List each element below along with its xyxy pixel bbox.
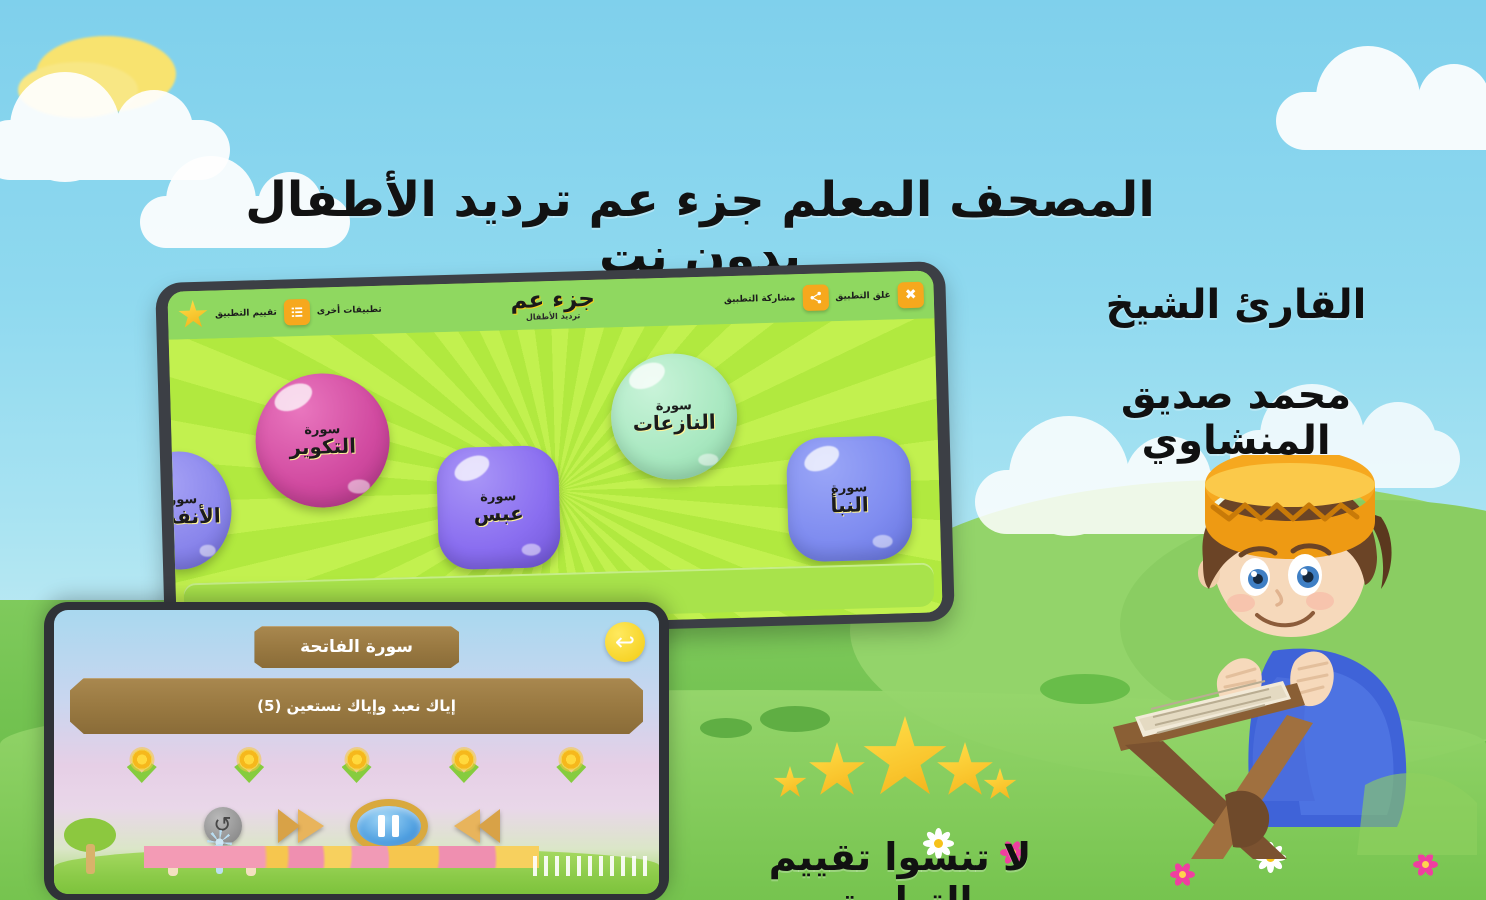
boy-reading-quran-illustration [1105,455,1485,875]
app-screen-menu: ✖ غلق التطبيق مشاركة التطبيق جزء عم تردي… [167,270,942,633]
bush-icon [760,706,830,732]
reciter-label: القارئ الشيخ [1026,282,1446,328]
tiny-flowers-row [144,846,539,868]
close-app-label: غلق التطبيق [835,291,891,303]
phone-mockup-player: ↩ سورة الفاتحة إياك نعبد وإياك نستعين (5… [44,602,669,900]
fence-icon [533,856,653,876]
other-apps-label: تطبيقات أخرى [317,305,382,317]
surah-button-annaziat[interactable]: سورة النازعات [609,352,738,481]
flower-icon [447,749,481,783]
flower-icon [232,749,266,783]
player-scenery [54,832,659,894]
surah-name: التكوير [289,436,356,459]
surah-button-alinfitar[interactable]: سورة الأنفطار [169,450,233,571]
toolbar-right-group: ✖ غلق التطبيق مشاركة التطبيق [724,282,925,314]
cloud-icon [1276,92,1486,150]
surah-name: النازعات [633,412,716,435]
rate-app-label: تقييم التطبيق [215,308,277,320]
promo-stage: المصحف المعلم جزء عم ترديد الأطفال بدون … [0,0,1486,900]
reciter-name: محمد صديق المنشاوي [1026,372,1446,464]
verse-text-banner: إياك نعبد وإياك نستعين (5) [70,678,643,734]
list-icon[interactable] [283,299,310,326]
surah-button-attakwir[interactable]: سورة التكوير [254,372,392,510]
surah-title-banner: سورة الفاتحة [254,626,459,668]
share-app-label: مشاركة التطبيق [724,293,796,305]
phone-mockup-menu: ✖ غلق التطبيق مشاركة التطبيق جزء عم تردي… [155,261,955,643]
list-glyph [290,305,304,319]
surah-name: الأنفطار [169,506,221,529]
flower-progress-row [54,745,659,787]
surah-name: عبس [473,503,524,525]
surah-button-annaba[interactable]: سورة النبأ [786,435,913,562]
close-icon[interactable]: ✖ [897,282,924,309]
flower-icon [125,749,159,783]
star-icon[interactable] [178,300,209,331]
share-glyph [808,290,822,304]
flower-icon [554,749,588,783]
tree-icon [62,818,118,874]
toolbar-left-group: تطبيقات أخرى تقييم التطبيق [178,295,382,331]
share-icon[interactable] [802,284,829,311]
bush-icon [700,718,752,738]
back-button[interactable]: ↩ [605,622,645,662]
surah-grid: سورة الأنفطار سورة التكوير سورة عبس سورة… [169,318,943,633]
rate-app-cta: لا تنسوا تقييم التطبيق [690,835,1110,900]
surah-name: النبأ [830,495,869,517]
flower-icon [340,749,374,783]
app-title: جزء عم [510,288,595,313]
surah-button-abasa[interactable]: سورة عبس [436,445,561,570]
app-screen-player: ↩ سورة الفاتحة إياك نعبد وإياك نستعين (5… [54,610,659,894]
app-logo: جزء عم ترديد الأطفال [510,288,595,322]
